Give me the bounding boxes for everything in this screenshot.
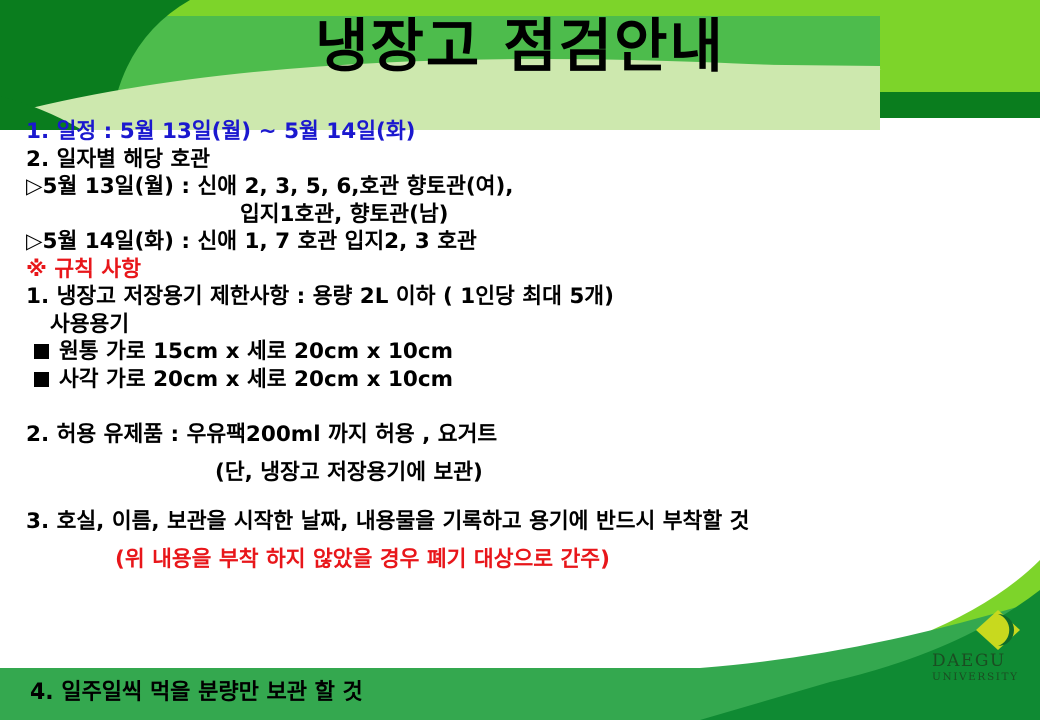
rule-1-bullet-2: 사각 가로 20cm x 세로 20cm x 10cm: [0, 366, 1040, 394]
page-title: 냉장고 점검안내: [0, 14, 1040, 79]
rule-1-subtext: 사용용기: [0, 311, 1040, 339]
spacer: [0, 449, 1040, 459]
schedule-day-1: ▷5월 13일(월) : 신애 2, 3, 5, 6,호관 향토관(여),: [0, 173, 1040, 201]
rule-1-bullet-1: 원통 가로 15cm x 세로 20cm x 10cm: [0, 338, 1040, 366]
rule-1-bullet-2-label: 사각 가로 20cm x 세로 20cm x 10cm: [59, 367, 453, 392]
schedule-day-1-continued: 입지1호관, 향토관(남): [0, 201, 1040, 229]
rule-4: 4. 일주일씩 먹을 분량만 보관 할 것: [30, 674, 363, 706]
logo-name-top: DAEGU: [932, 651, 1006, 671]
rule-2-subtext: (단, 냉장고 저장용기에 보관): [0, 459, 1040, 487]
rule-2: 2. 허용 유제품 : 우유팩200ml 까지 허용 , 요거트: [0, 421, 1040, 449]
square-bullet-icon: [34, 372, 49, 387]
body-content: 1. 일정 : 5월 13일(월) ~ 5월 14일(화) 2. 일자별 해당 …: [0, 118, 1040, 573]
rule-3: 3. 호실, 이름, 보관을 시작한 날짜, 내용물을 기록하고 용기에 반드시…: [0, 508, 1040, 536]
logo-emblem-icon: [976, 610, 1020, 650]
slide-canvas: 냉장고 점검안내 1. 일정 : 5월 13일(월) ~ 5월 14일(화) 2…: [0, 0, 1040, 720]
logo-name-bottom: UNIVERSITY: [932, 671, 1019, 683]
spacer: [0, 486, 1040, 508]
spacer: [0, 536, 1040, 546]
rules-heading: ※ 규칙 사항: [0, 256, 1040, 284]
rule-1: 1. 냉장고 저장용기 제한사항 : 용량 2L 이하 ( 1인당 최대 5개): [0, 283, 1040, 311]
daegu-university-logo: DAEGU UNIVERSITY: [918, 608, 1022, 686]
schedule-day-2: ▷5월 14일(화) : 신애 1, 7 호관 입지2, 3 호관: [0, 228, 1040, 256]
spacer: [0, 393, 1040, 421]
rule-1-bullet-1-label: 원통 가로 15cm x 세로 20cm x 10cm: [59, 339, 453, 364]
schedule-line-1: 1. 일정 : 5월 13일(월) ~ 5월 14일(화): [0, 118, 1040, 146]
schedule-line-2: 2. 일자별 해당 호관: [0, 146, 1040, 174]
rule-3-warning: (위 내용을 부착 하지 않았을 경우 폐기 대상으로 간주): [0, 546, 1040, 574]
square-bullet-icon: [34, 344, 49, 359]
